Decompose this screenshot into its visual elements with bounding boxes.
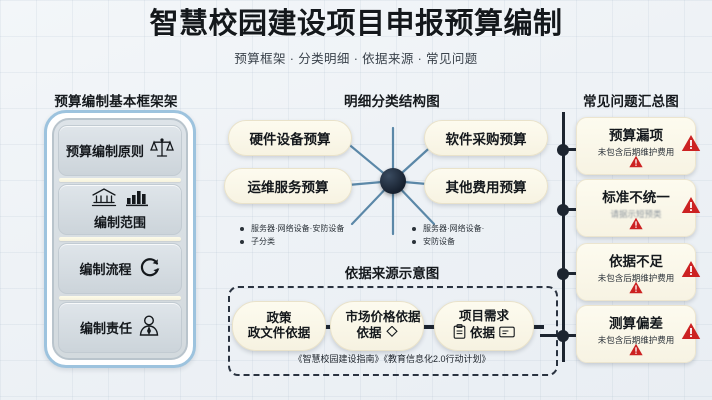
list-item: 服务器·网络设备·安防设备 — [240, 222, 344, 235]
framework-item-principles[interactable]: 预算编制原则 — [58, 125, 182, 176]
issue-card-title: 依据不足 — [577, 250, 695, 270]
framework-scope-icons — [91, 187, 149, 212]
framework-item-responsibility[interactable]: 编制责任 — [58, 302, 182, 353]
classification-bullets-right: 服务器·网络设备· 安防设备 — [412, 222, 484, 248]
card-icon — [499, 326, 515, 342]
framework-item-scope[interactable]: 编制范围 — [58, 184, 182, 235]
source-item-line1: 项目需求 — [459, 309, 509, 324]
classification-bullets-left: 服务器·网络设备·安防设备 子分类 — [240, 222, 344, 248]
framework-divider — [59, 296, 181, 301]
page-title: 智慧校园建设项目申报预算编制 — [0, 8, 712, 41]
classification-node-software[interactable]: 软件采购预算 — [424, 120, 548, 156]
poster-header: 智慧校园建设项目申报预算编制 预算框架 · 分类明细 · 依据来源 · 常见问题 — [0, 8, 712, 67]
diamond-icon — [386, 326, 398, 342]
framework-item-label: 编制责任 — [80, 318, 132, 337]
framework-frame-inner: 预算编制原则 — [52, 118, 188, 360]
list-item: 安防设备 — [412, 235, 484, 248]
classification-node-label: 软件采购预算 — [446, 128, 527, 148]
source-item-line2: 依据 — [453, 324, 515, 343]
source-item-policy[interactable]: 政策 政文件依据 — [232, 301, 326, 351]
clipboard-icon — [453, 324, 466, 343]
sources-heading: 依据来源示意图 — [232, 262, 552, 282]
source-item-line1: 政策 — [266, 311, 291, 326]
source-item-line1: 市场价格依据 — [345, 310, 420, 325]
list-item: 子分类 — [240, 235, 344, 248]
person-icon — [138, 314, 160, 342]
framework-item-label: 编制流程 — [79, 259, 131, 278]
source-item-line2-text: 依据 — [470, 326, 495, 341]
classification-hub-node — [380, 168, 406, 194]
bank-icon — [91, 187, 117, 212]
page-subtitle: 预算框架 · 分类明细 · 依据来源 · 常见问题 — [0, 48, 712, 67]
issue-card-title: 预算漏项 — [577, 124, 695, 144]
warning-triangle-icon — [681, 196, 701, 219]
classification-node-label: 其他费用预算 — [446, 176, 527, 196]
warning-triangle-icon — [629, 343, 644, 361]
warning-triangle-icon — [681, 260, 701, 283]
framework-divider — [59, 178, 181, 183]
framework-frame: 预算编制原则 — [44, 110, 196, 368]
framework-heading: 预算编制基本框架架 — [18, 90, 214, 110]
source-item-market-price[interactable]: 市场价格依据 依据 — [330, 301, 424, 351]
issue-card-estimation-deviation[interactable]: 测算偏差 未包含后期维护费用 — [576, 305, 696, 363]
issue-card-budget-omission[interactable]: 预算漏项 未包含后期维护费用 — [576, 117, 696, 175]
issue-card-inconsistent-standard[interactable]: 标准不统一 请据示短预类 — [576, 179, 696, 237]
classification-node-label: 硬件设备预算 — [250, 128, 331, 148]
source-item-project-demand[interactable]: 项目需求 依据 — [434, 301, 534, 351]
issue-card-title: 测算偏差 — [577, 312, 695, 332]
warning-triangle-icon — [629, 281, 644, 299]
scales-icon — [150, 137, 174, 164]
classification-node-label: 运维服务预算 — [248, 176, 329, 196]
source-item-line2-text: 政文件依据 — [248, 326, 311, 341]
warning-triangle-icon — [629, 217, 644, 235]
framework-item-label: 编制范围 — [94, 212, 146, 231]
source-item-line2: 依据 — [356, 326, 397, 342]
warning-triangle-icon — [681, 322, 701, 345]
warning-triangle-icon — [681, 134, 701, 157]
timeline-connector — [540, 334, 580, 337]
classification-node-other[interactable]: 其他费用预算 — [424, 168, 548, 204]
classification-node-hardware[interactable]: 硬件设备预算 — [228, 120, 352, 156]
poster-canvas: 智慧校园建设项目申报预算编制 预算框架 · 分类明细 · 依据来源 · 常见问题… — [0, 0, 712, 400]
issues-heading: 常见问题汇总图 — [556, 90, 706, 110]
framework-item-label: 预算编制原则 — [66, 141, 144, 160]
source-item-line2-text: 依据 — [356, 326, 381, 341]
framework-item-process[interactable]: 编制流程 — [58, 243, 182, 294]
sources-footnote: 《智慧校园建设指南》《教育信息化2.0行动计划》 — [232, 352, 552, 365]
issue-card-title: 标准不统一 — [577, 186, 695, 206]
warning-triangle-icon — [629, 155, 644, 173]
framework-divider — [59, 237, 181, 242]
refresh-cycle-icon — [138, 255, 161, 283]
bar-chart-icon — [125, 187, 149, 212]
list-item: 服务器·网络设备· — [412, 222, 484, 235]
issue-card-insufficient-basis[interactable]: 依据不足 未包含后期维护费用 — [576, 243, 696, 301]
source-item-line2: 政文件依据 — [248, 326, 311, 341]
classification-node-operations[interactable]: 运维服务预算 — [224, 168, 352, 204]
